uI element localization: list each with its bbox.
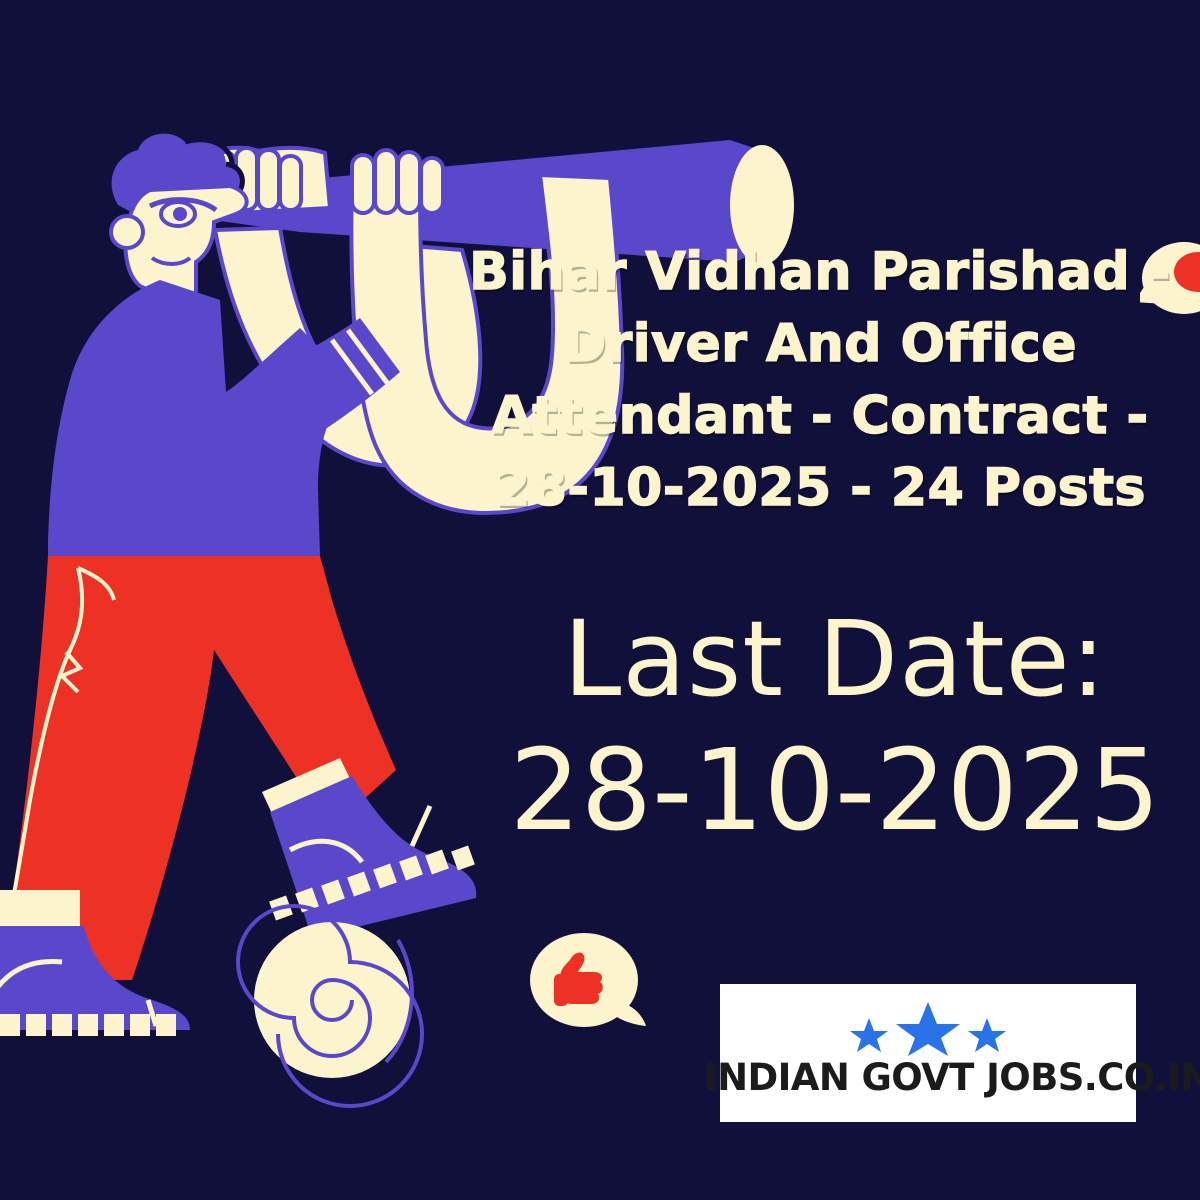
headline-line-4: 28-10-2025 - 24 Posts — [455, 452, 1185, 524]
star-center-icon — [896, 1002, 960, 1056]
star-left-icon — [850, 1018, 888, 1052]
last-date-block: Last Date: 28-10-2025 — [470, 600, 1200, 850]
logo-wordmark: INDIAN GOVT JOBS.CO.IN — [704, 1056, 1152, 1099]
spiral-wheel — [238, 906, 422, 1106]
site-logo[interactable]: INDIAN GOVT JOBS.CO.IN — [720, 984, 1136, 1122]
last-date-label: Last Date: — [470, 600, 1200, 718]
thumbs-up-speech-bubble-icon — [528, 926, 652, 1042]
headline-block: Bihar Vidhan Parishad - Driver And Offic… — [455, 236, 1185, 524]
three-stars-icon — [720, 1000, 1136, 1058]
headline-line-1: Bihar Vidhan Parishad - — [455, 236, 1185, 308]
poster-canvas: Bihar Vidhan Parishad - Driver And Offic… — [0, 0, 1200, 1200]
last-date-value: 28-10-2025 — [470, 732, 1200, 850]
star-right-icon — [968, 1018, 1006, 1052]
headline-line-2: Driver And Office — [455, 308, 1185, 380]
finger-group-right — [352, 150, 443, 213]
headline-line-3: Attendant - Contract - — [455, 380, 1185, 452]
